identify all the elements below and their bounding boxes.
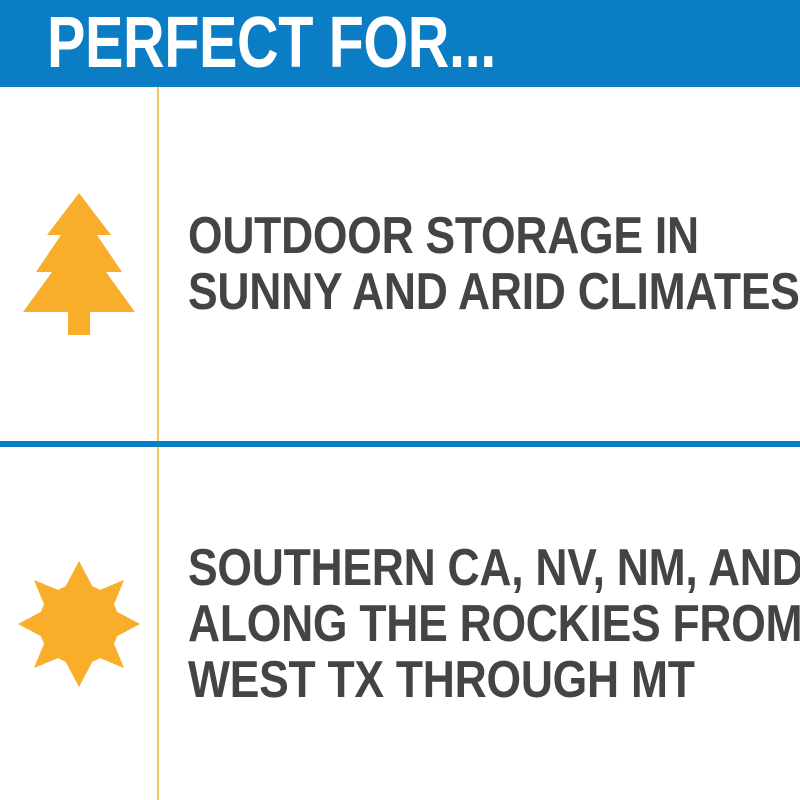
feature-row-outdoor-storage: OUTDOOR STORAGE IN SUNNY AND ARID CLIMAT…	[0, 87, 800, 441]
feature-text-regions: SOUTHERN CA, NV, NM, AND ALONG THE ROCKI…	[188, 540, 800, 708]
feature-text-line: OUTDOOR STORAGE IN	[188, 208, 800, 264]
feature-text-line: SOUTHERN CA, NV, NM, AND	[188, 540, 800, 596]
feature-text-line: SUNNY AND ARID CLIMATES	[188, 264, 800, 320]
sun-icon	[18, 561, 140, 687]
page-title: PERFECT FOR...	[47, 6, 496, 80]
feature-text-line: WEST TX THROUGH MT	[188, 652, 800, 708]
text-cell-outdoor-storage: OUTDOOR STORAGE IN SUNNY AND ARID CLIMAT…	[157, 87, 800, 441]
evergreen-tree-icon	[23, 193, 135, 335]
text-cell-regions: SOUTHERN CA, NV, NM, AND ALONG THE ROCKI…	[157, 447, 800, 800]
perfect-for-infographic: PERFECT FOR... OUTDOOR STORAGE IN SUNNY …	[0, 0, 800, 800]
feature-text-line: ALONG THE ROCKIES FROM	[188, 596, 800, 652]
feature-row-regions: SOUTHERN CA, NV, NM, AND ALONG THE ROCKI…	[0, 447, 800, 800]
icon-cell-sun	[0, 447, 157, 800]
header-banner: PERFECT FOR...	[0, 0, 800, 87]
feature-text-outdoor-storage: OUTDOOR STORAGE IN SUNNY AND ARID CLIMAT…	[188, 208, 800, 320]
row-divider	[0, 441, 800, 447]
icon-cell-tree	[0, 87, 157, 441]
